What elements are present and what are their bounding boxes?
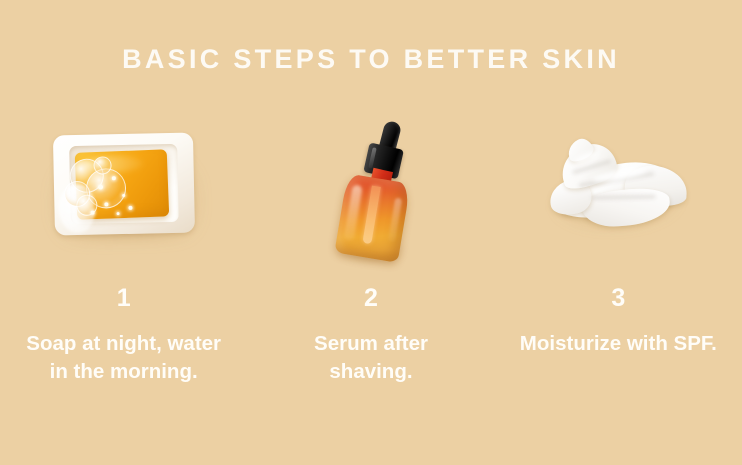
step-number-2: 2 bbox=[364, 286, 378, 311]
step-caption-2: Serum after shaving. bbox=[271, 330, 471, 386]
foam-sparkle bbox=[98, 184, 103, 189]
pipette-tube bbox=[362, 186, 380, 245]
step-card-3: 3 Moisturize with SPF. bbox=[495, 112, 742, 442]
step-card-2: 2 Serum after shaving. bbox=[247, 112, 494, 442]
foam-sparkle bbox=[90, 211, 94, 215]
foam-sparkle bbox=[111, 176, 115, 180]
bubble-icon bbox=[93, 156, 111, 174]
foam-sparkle bbox=[128, 206, 132, 210]
skincare-infographic: BASIC STEPS TO BETTER SKIN bbox=[0, 0, 742, 465]
foam-sparkle bbox=[122, 194, 125, 197]
soap-illustration bbox=[47, 130, 201, 241]
soap-bar-on-dish-image bbox=[0, 112, 247, 264]
soap-lather bbox=[63, 154, 126, 217]
serum-dropper-bottle-image bbox=[247, 112, 494, 264]
step-number-1: 1 bbox=[117, 286, 131, 311]
foam-sparkle bbox=[116, 212, 119, 215]
step-number-3: 3 bbox=[611, 286, 625, 311]
bottle-body-group bbox=[322, 112, 428, 268]
foam-sparkle bbox=[104, 202, 108, 206]
serum-illustration bbox=[325, 116, 417, 264]
step-caption-3: Moisturize with SPF. bbox=[520, 330, 717, 358]
bottle-glass bbox=[334, 173, 410, 262]
cream-illustration bbox=[537, 130, 700, 246]
step-caption-1: Soap at night, water in the morning. bbox=[24, 330, 224, 386]
moisturizer-cream-swatch-image bbox=[495, 112, 742, 264]
steps-row: 1 Soap at night, water in the morning. bbox=[0, 112, 742, 442]
step-card-1: 1 Soap at night, water in the morning. bbox=[0, 112, 247, 442]
page-title: BASIC STEPS TO BETTER SKIN bbox=[0, 46, 742, 73]
